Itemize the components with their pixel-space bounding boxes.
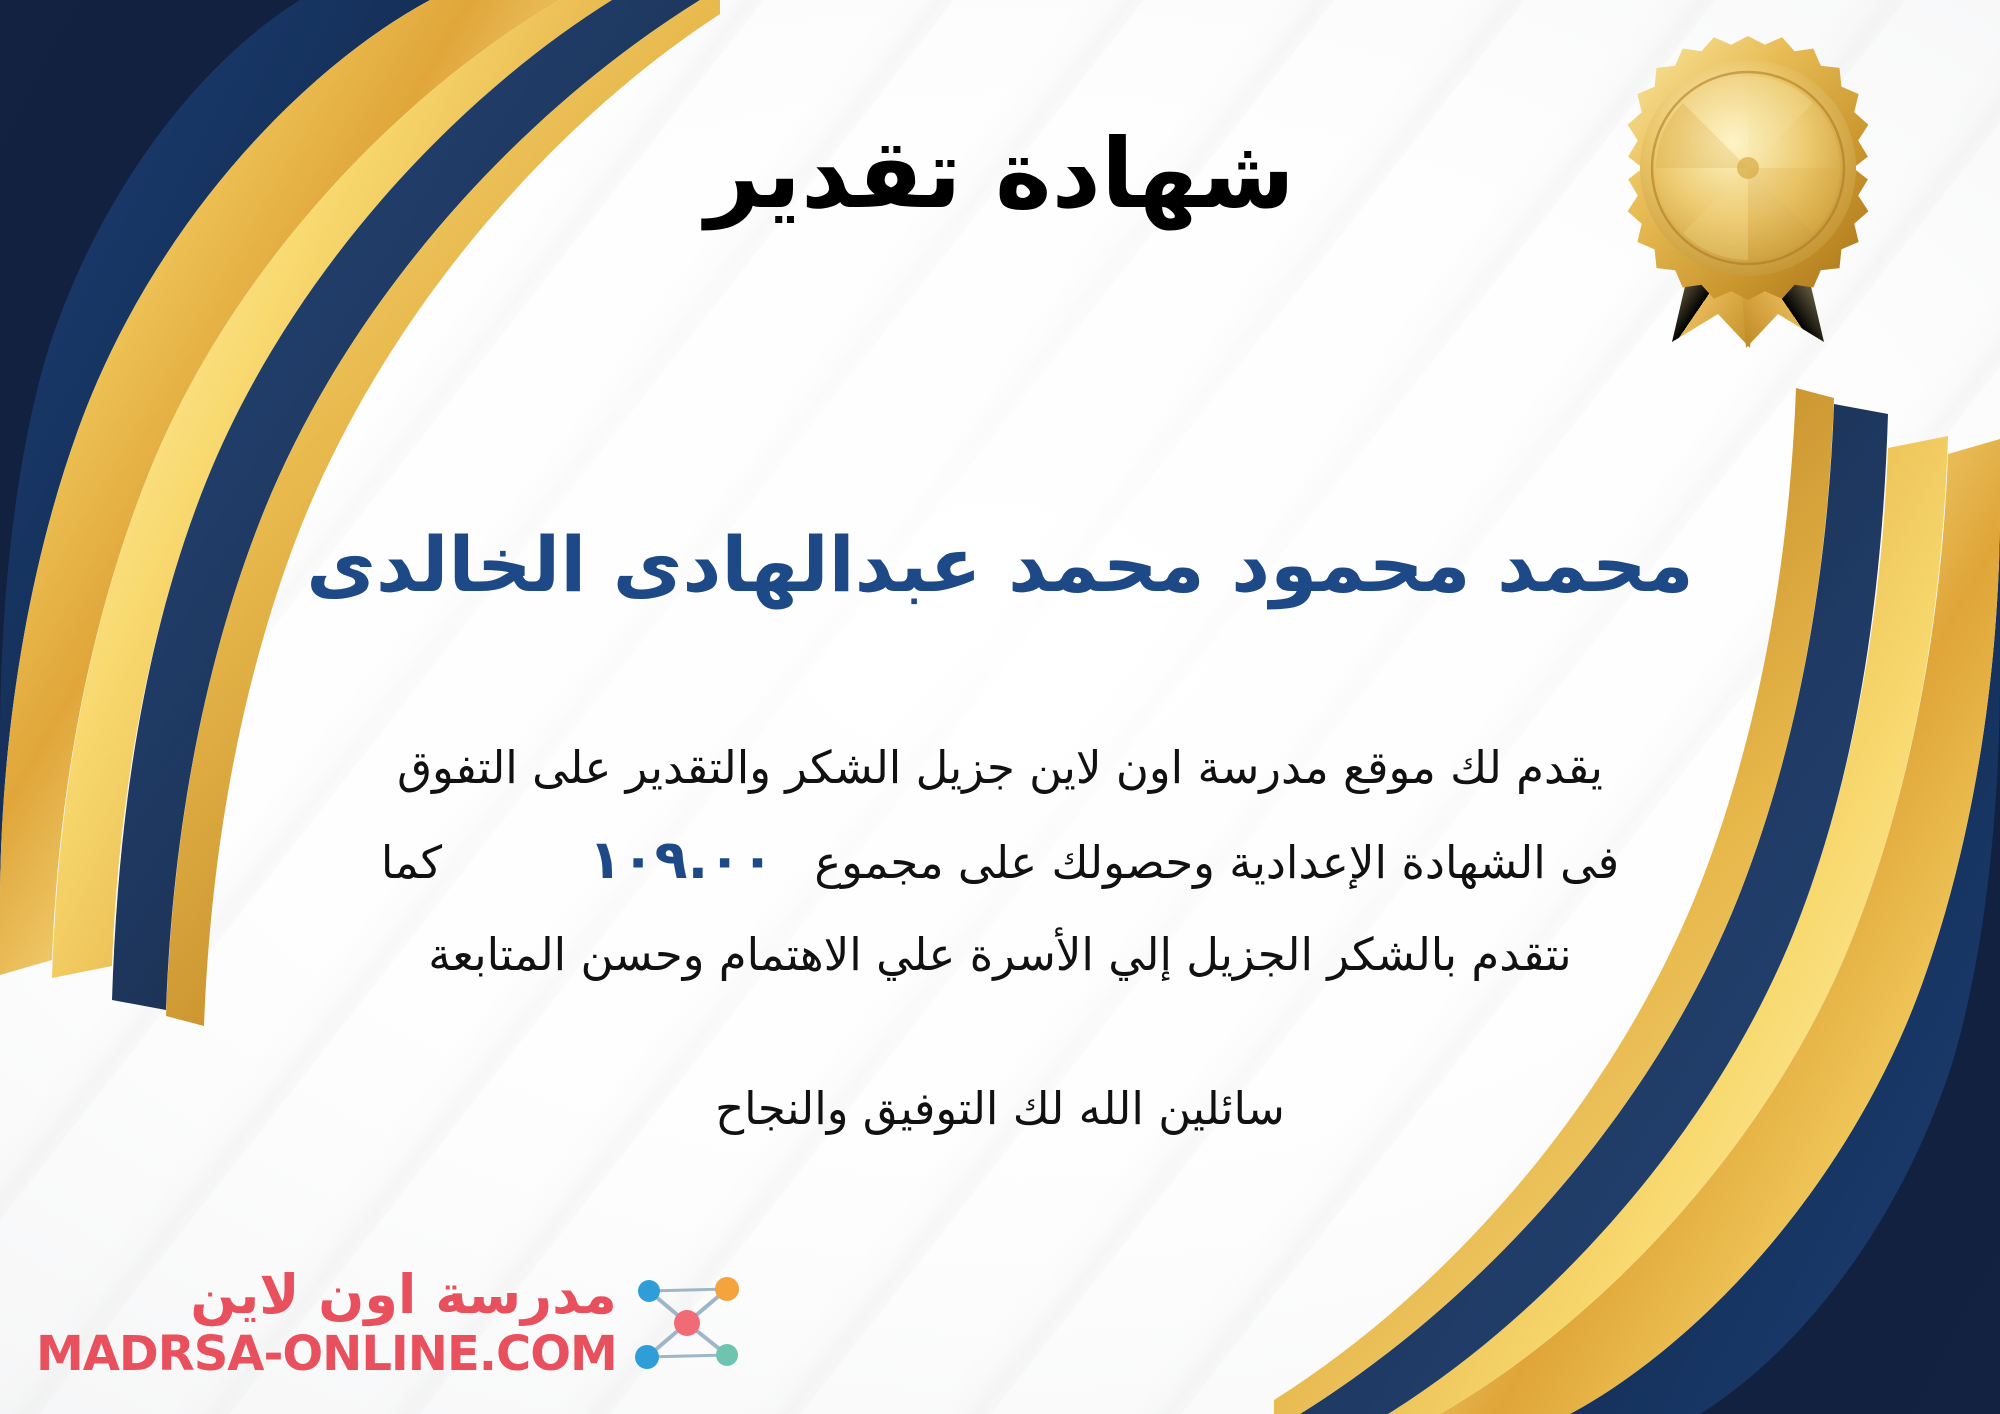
score-value: ١٠٩.٠٠	[563, 828, 800, 891]
certificate-document: شهادة تقدير محمد محمود محمد عبدالهادى ال…	[0, 0, 2000, 1414]
certificate-body: يقدم لك موقع مدرسة اون لاين جزيل الشكر و…	[120, 722, 1880, 1001]
body-line-2: فى الشهادة الإعدادية وحصولك على مجموع ١٠…	[120, 814, 1880, 909]
award-medal-seal-icon	[1608, 26, 1888, 356]
brand-text-block: مدرسة اون لاين MADRSA-ONLINE.COM	[36, 1268, 617, 1378]
brand-logo[interactable]: مدرسة اون لاين MADRSA-ONLINE.COM	[36, 1268, 747, 1378]
body-line-3: نتقدم بالشكر الجزيل إلي الأسرة علي الاهت…	[120, 909, 1880, 1001]
body-line-1: يقدم لك موقع مدرسة اون لاين جزيل الشكر و…	[120, 722, 1880, 814]
brand-domain: MADRSA-ONLINE.COM	[36, 1330, 617, 1378]
brand-arabic-name: مدرسة اون لاين	[190, 1268, 616, 1322]
recipient-name: محمد محمود محمد عبدالهادى الخالدى	[0, 520, 2000, 609]
network-nodes-icon	[627, 1269, 747, 1377]
closing-line: سائلين الله لك التوفيق والنجاح	[0, 1082, 2000, 1135]
body-line-2-prefix: فى الشهادة الإعدادية وحصولك على مجموع	[814, 836, 1619, 889]
body-line-2-suffix: كما	[381, 836, 442, 889]
